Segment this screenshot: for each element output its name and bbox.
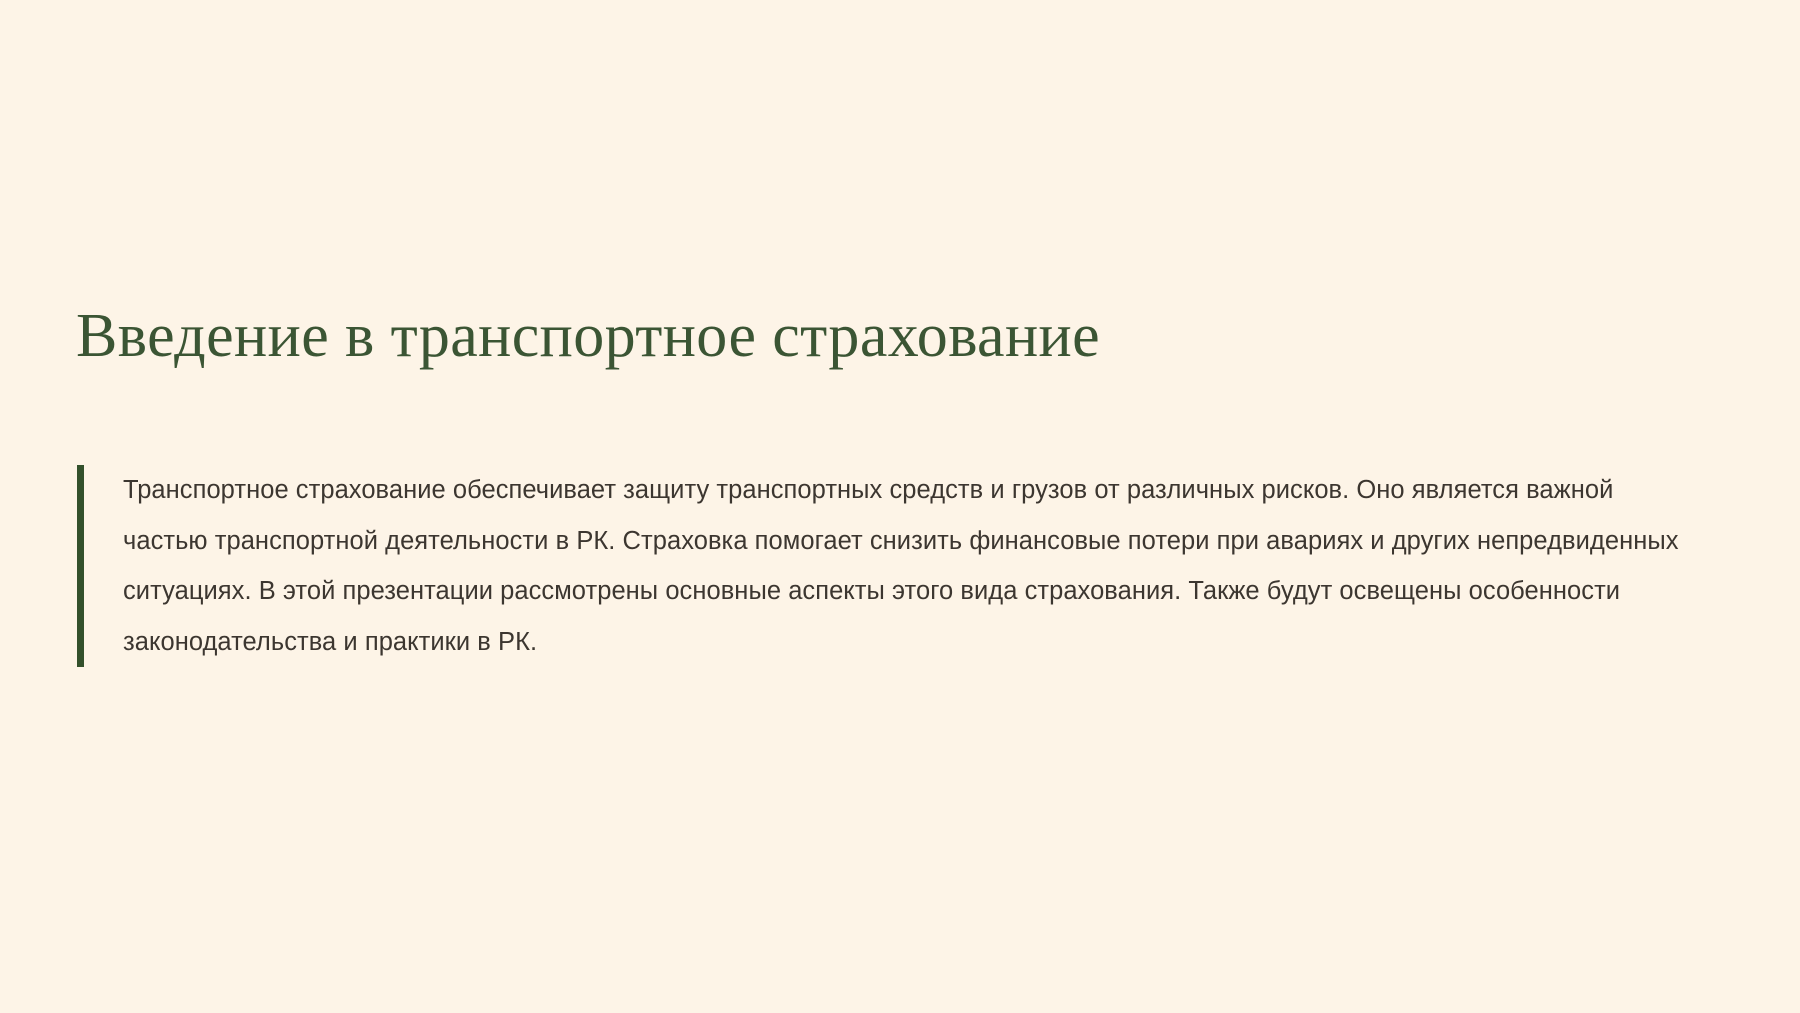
presentation-slide: Введение в транспортное страхование Тран…: [0, 0, 1800, 1013]
body-paragraph: Транспортное страхование обеспечивает за…: [123, 465, 1697, 667]
body-text-container: Транспортное страхование обеспечивает за…: [84, 465, 1697, 667]
body-callout-block: Транспортное страхование обеспечивает за…: [77, 465, 1697, 667]
page-title: Введение в транспортное страхование: [76, 298, 1716, 374]
accent-bar: [77, 465, 84, 667]
